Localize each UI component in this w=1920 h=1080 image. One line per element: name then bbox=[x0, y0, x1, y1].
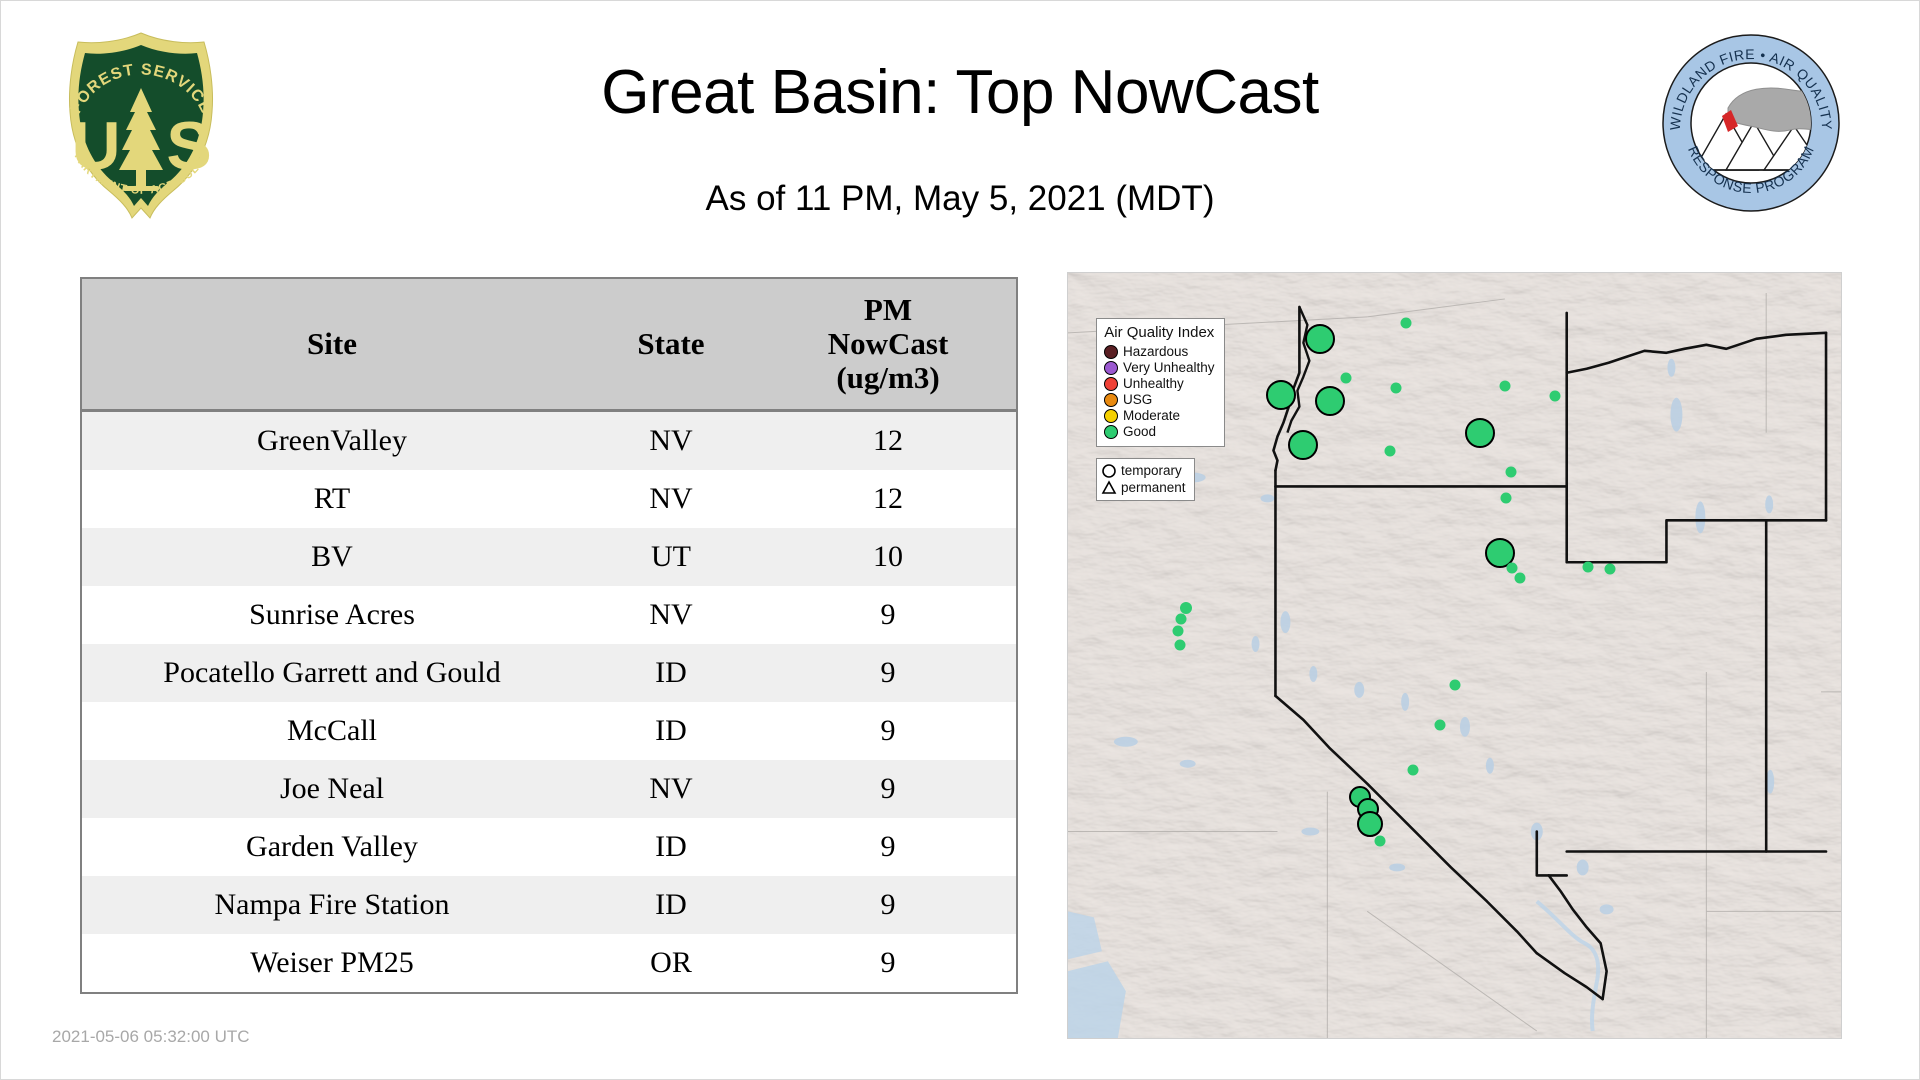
pm-header-line-1: PM bbox=[864, 292, 912, 327]
column-header-pm-nowcast: PM NowCast (ug/m3) bbox=[760, 278, 1017, 411]
aqi-legend-item: Very Unhealthy bbox=[1104, 360, 1215, 375]
cell-pm-nowcast: 9 bbox=[760, 934, 1017, 993]
table-header: Site State PM NowCast (ug/m3) bbox=[81, 278, 1017, 411]
aqi-legend-item: Hazardous bbox=[1104, 344, 1215, 359]
map-site-marker[interactable] bbox=[1605, 564, 1616, 575]
symbol-legend-label-temporary: temporary bbox=[1121, 463, 1182, 478]
cell-state: ID bbox=[582, 702, 760, 760]
map-site-marker[interactable] bbox=[1288, 430, 1318, 460]
table-row: GreenValleyNV12 bbox=[81, 411, 1017, 471]
table-header-row: Site State PM NowCast (ug/m3) bbox=[81, 278, 1017, 411]
cell-site: Sunrise Acres bbox=[81, 586, 582, 644]
map-site-marker[interactable] bbox=[1305, 324, 1335, 354]
cell-state: NV bbox=[582, 470, 760, 528]
table-row: Sunrise AcresNV9 bbox=[81, 586, 1017, 644]
map-site-marker[interactable] bbox=[1465, 418, 1495, 448]
cell-site: BV bbox=[81, 528, 582, 586]
aqi-legend-label: Good bbox=[1123, 424, 1156, 439]
cell-state: OR bbox=[582, 934, 760, 993]
svg-text:S: S bbox=[166, 108, 211, 184]
map-site-marker[interactable] bbox=[1515, 573, 1526, 584]
table-row: Pocatello Garrett and GouldID9 bbox=[81, 644, 1017, 702]
aqi-legend-item: Moderate bbox=[1104, 408, 1215, 423]
map-site-marker[interactable] bbox=[1583, 562, 1594, 573]
cell-site: Garden Valley bbox=[81, 818, 582, 876]
map-site-marker[interactable] bbox=[1507, 563, 1518, 574]
svg-text:U: U bbox=[71, 108, 120, 184]
cell-pm-nowcast: 10 bbox=[760, 528, 1017, 586]
column-header-state: State bbox=[582, 278, 760, 411]
cell-state: NV bbox=[582, 586, 760, 644]
map-site-marker[interactable] bbox=[1357, 811, 1383, 837]
top-nowcast-table-container: Site State PM NowCast (ug/m3) GreenValle… bbox=[80, 277, 990, 994]
cell-pm-nowcast: 9 bbox=[760, 760, 1017, 818]
top-nowcast-table: Site State PM NowCast (ug/m3) GreenValle… bbox=[80, 277, 1018, 994]
aqi-legend-item: Good bbox=[1104, 424, 1215, 439]
map-site-marker[interactable] bbox=[1408, 765, 1419, 776]
map-site-marker[interactable] bbox=[1266, 380, 1296, 410]
map-site-marker[interactable] bbox=[1175, 640, 1186, 651]
aqi-legend: Air Quality Index HazardousVery Unhealth… bbox=[1096, 318, 1225, 447]
cell-pm-nowcast: 9 bbox=[760, 644, 1017, 702]
cell-pm-nowcast: 9 bbox=[760, 702, 1017, 760]
map-site-marker[interactable] bbox=[1176, 614, 1187, 625]
map-site-marker[interactable] bbox=[1315, 386, 1345, 416]
aqi-legend-swatch-icon bbox=[1104, 345, 1118, 359]
cell-pm-nowcast: 12 bbox=[760, 411, 1017, 471]
map-site-marker[interactable] bbox=[1506, 467, 1517, 478]
cell-state: ID bbox=[582, 644, 760, 702]
aqi-legend-swatch-icon bbox=[1104, 393, 1118, 407]
column-header-site: Site bbox=[81, 278, 582, 411]
map-site-marker[interactable] bbox=[1450, 680, 1461, 691]
cell-site: Joe Neal bbox=[81, 760, 582, 818]
table-row: Weiser PM25OR9 bbox=[81, 934, 1017, 993]
aqi-legend-label: Very Unhealthy bbox=[1123, 360, 1215, 375]
cell-state: UT bbox=[582, 528, 760, 586]
usfs-forest-service-logo: FOREST SERVICE DEPARTMENT OF AGRICULTURE… bbox=[48, 26, 234, 226]
page-title: Great Basin: Top NowCast bbox=[260, 58, 1660, 128]
map-site-marker[interactable] bbox=[1385, 446, 1396, 457]
aqi-legend-swatch-icon bbox=[1104, 361, 1118, 375]
monitor-map[interactable]: Air Quality Index HazardousVery Unhealth… bbox=[1067, 272, 1842, 1039]
cell-site: Pocatello Garrett and Gould bbox=[81, 644, 582, 702]
cell-state: ID bbox=[582, 876, 760, 934]
map-site-marker[interactable] bbox=[1391, 383, 1402, 394]
mountains-smoke-icon: WILDLAND FIRE • AIR QUALITY RESPONSE PRO… bbox=[1658, 30, 1844, 216]
pm-header-line-2: NowCast bbox=[828, 326, 949, 361]
map-site-marker[interactable] bbox=[1550, 391, 1561, 402]
cell-pm-nowcast: 9 bbox=[760, 818, 1017, 876]
table-row: McCallID9 bbox=[81, 702, 1017, 760]
aqi-legend-label: Moderate bbox=[1123, 408, 1180, 423]
table-row: Garden ValleyID9 bbox=[81, 818, 1017, 876]
map-site-marker[interactable] bbox=[1375, 836, 1386, 847]
map-site-marker[interactable] bbox=[1501, 493, 1512, 504]
cell-site: GreenValley bbox=[81, 411, 582, 471]
symbol-legend-row-permanent: permanent bbox=[1101, 479, 1186, 496]
cell-site: McCall bbox=[81, 702, 582, 760]
aqi-legend-title: Air Quality Index bbox=[1104, 324, 1215, 341]
symbol-legend: temporary permanent bbox=[1096, 458, 1195, 501]
cell-pm-nowcast: 12 bbox=[760, 470, 1017, 528]
aqi-legend-label: Hazardous bbox=[1123, 344, 1188, 359]
map-site-marker[interactable] bbox=[1401, 318, 1412, 329]
table-row: RTNV12 bbox=[81, 470, 1017, 528]
aqi-legend-item: USG bbox=[1104, 392, 1215, 407]
cell-site: RT bbox=[81, 470, 582, 528]
table-body: GreenValleyNV12RTNV12BVUT10Sunrise Acres… bbox=[81, 411, 1017, 994]
aqi-legend-label: USG bbox=[1123, 392, 1152, 407]
aqi-legend-rows: HazardousVery UnhealthyUnhealthyUSGModer… bbox=[1104, 344, 1215, 439]
triangle-marker-icon bbox=[1101, 480, 1117, 496]
page-subtitle: As of 11 PM, May 5, 2021 (MDT) bbox=[260, 178, 1660, 220]
usfs-shield-icon: FOREST SERVICE DEPARTMENT OF AGRICULTURE… bbox=[48, 26, 234, 226]
cell-state: NV bbox=[582, 760, 760, 818]
generated-timestamp: 2021-05-06 05:32:00 UTC bbox=[52, 1027, 250, 1047]
map-site-marker[interactable] bbox=[1435, 720, 1446, 731]
aqi-legend-swatch-icon bbox=[1104, 425, 1118, 439]
wfaqrp-logo: WILDLAND FIRE • AIR QUALITY RESPONSE PRO… bbox=[1658, 30, 1844, 216]
cell-site: Nampa Fire Station bbox=[81, 876, 582, 934]
map-site-marker[interactable] bbox=[1173, 626, 1184, 637]
aqi-legend-label: Unhealthy bbox=[1123, 376, 1184, 391]
cell-state: ID bbox=[582, 818, 760, 876]
symbol-legend-label-permanent: permanent bbox=[1121, 480, 1186, 495]
aqi-legend-swatch-icon bbox=[1104, 377, 1118, 391]
cell-pm-nowcast: 9 bbox=[760, 876, 1017, 934]
cell-pm-nowcast: 9 bbox=[760, 586, 1017, 644]
table-row: BVUT10 bbox=[81, 528, 1017, 586]
aqi-legend-item: Unhealthy bbox=[1104, 376, 1215, 391]
table-row: Joe NealNV9 bbox=[81, 760, 1017, 818]
map-site-marker[interactable] bbox=[1500, 381, 1511, 392]
cell-state: NV bbox=[582, 411, 760, 471]
pm-header-line-3: (ug/m3) bbox=[836, 360, 939, 395]
map-site-marker[interactable] bbox=[1180, 602, 1192, 614]
cell-site: Weiser PM25 bbox=[81, 934, 582, 993]
map-site-marker[interactable] bbox=[1341, 373, 1352, 384]
aqi-legend-swatch-icon bbox=[1104, 409, 1118, 423]
circle-marker-icon bbox=[1101, 463, 1117, 479]
symbol-legend-row-temporary: temporary bbox=[1101, 462, 1186, 479]
table-row: Nampa Fire StationID9 bbox=[81, 876, 1017, 934]
